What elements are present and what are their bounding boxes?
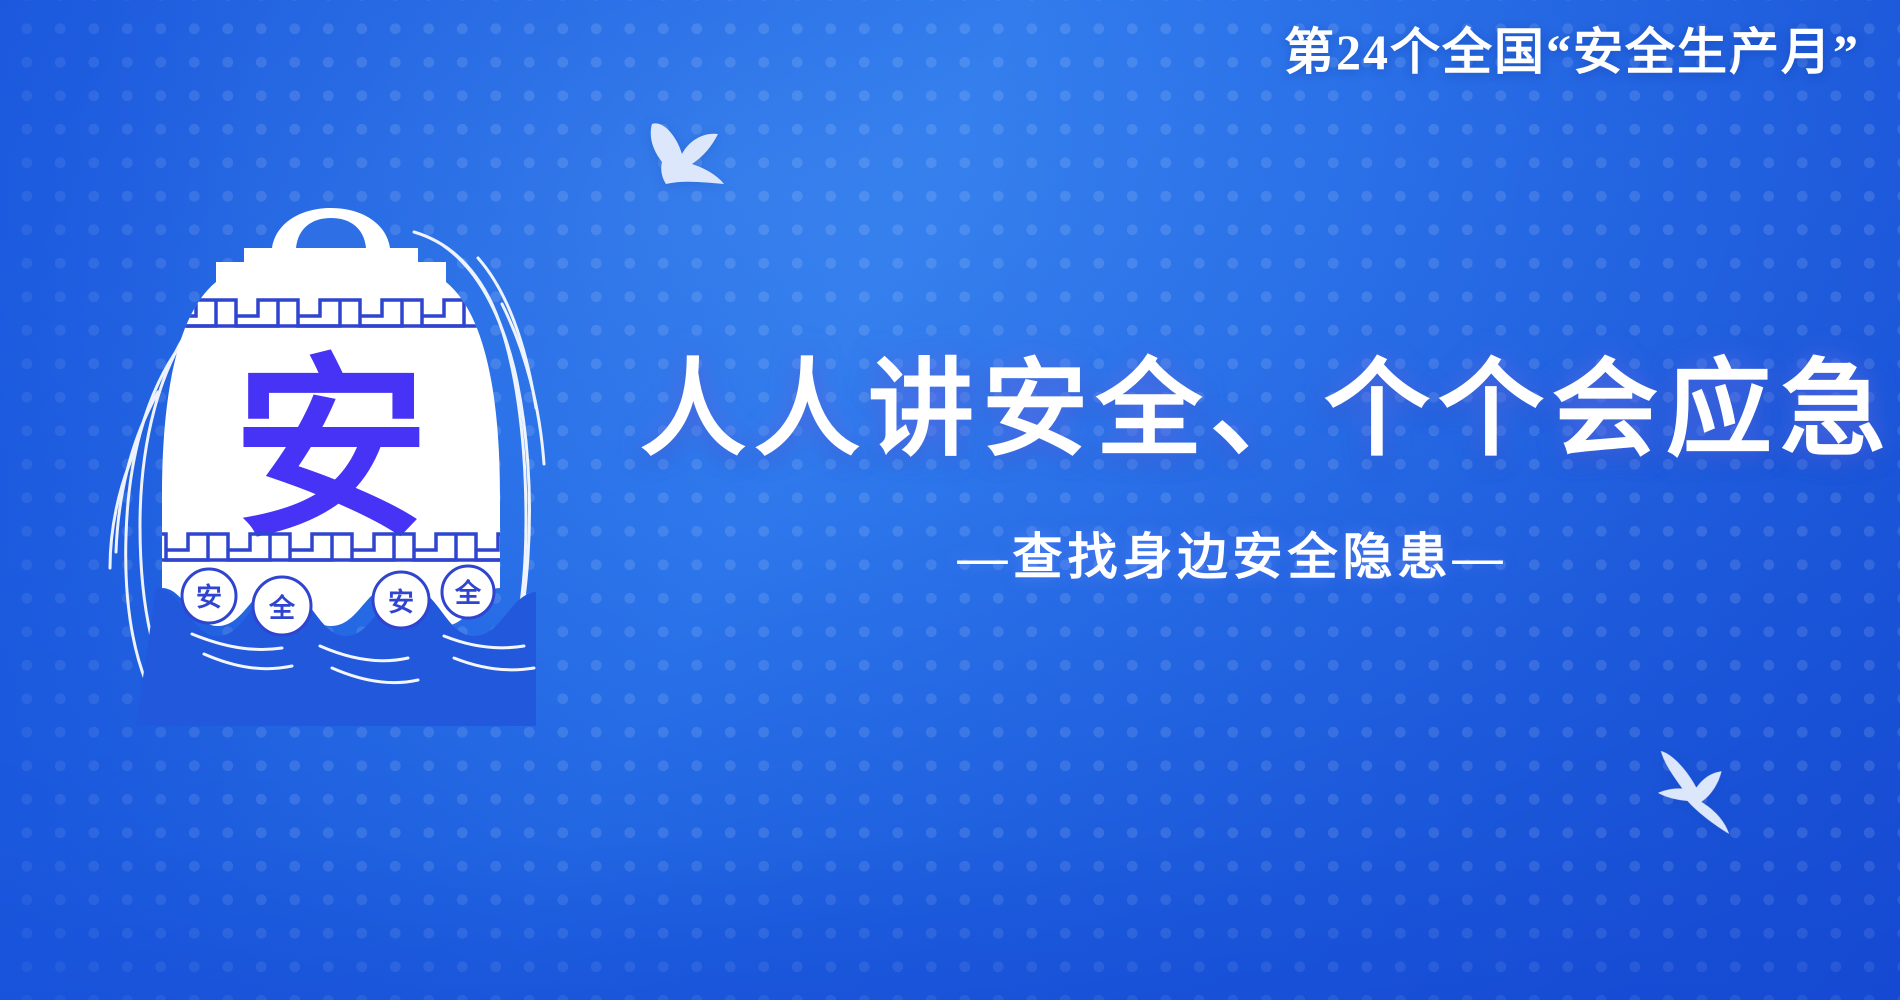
svg-text:安: 安 — [196, 583, 222, 612]
safety-bell-illustration: 安 安 全 安 — [96, 196, 566, 716]
bell-seal-3: 安 — [373, 572, 429, 628]
svg-text:安: 安 — [388, 588, 414, 617]
title-block: 人人讲安全、个个会应急 —查找身边安全隐患— — [640, 352, 1825, 589]
main-slogan-text: 人人讲安全、个个会应急 — [640, 352, 1825, 471]
svg-text:全: 全 — [454, 578, 482, 608]
dove-icon-bottom — [1649, 745, 1757, 842]
bell-seal-4: 全 — [442, 566, 494, 618]
sub-slogan-text: —查找身边安全隐患— — [640, 517, 1825, 589]
bell-seal-2: 全 — [253, 577, 311, 635]
campaign-kicker-text: 第24个全国“安全生产月” — [1284, 24, 1860, 82]
dove-icon-top — [632, 112, 744, 202]
safety-month-banner: 第24个全国“安全生产月” — [0, 0, 1900, 1000]
bell-seal-1: 安 — [182, 569, 236, 623]
bell-center-character: 安 — [233, 344, 429, 561]
svg-text:全: 全 — [268, 593, 296, 623]
